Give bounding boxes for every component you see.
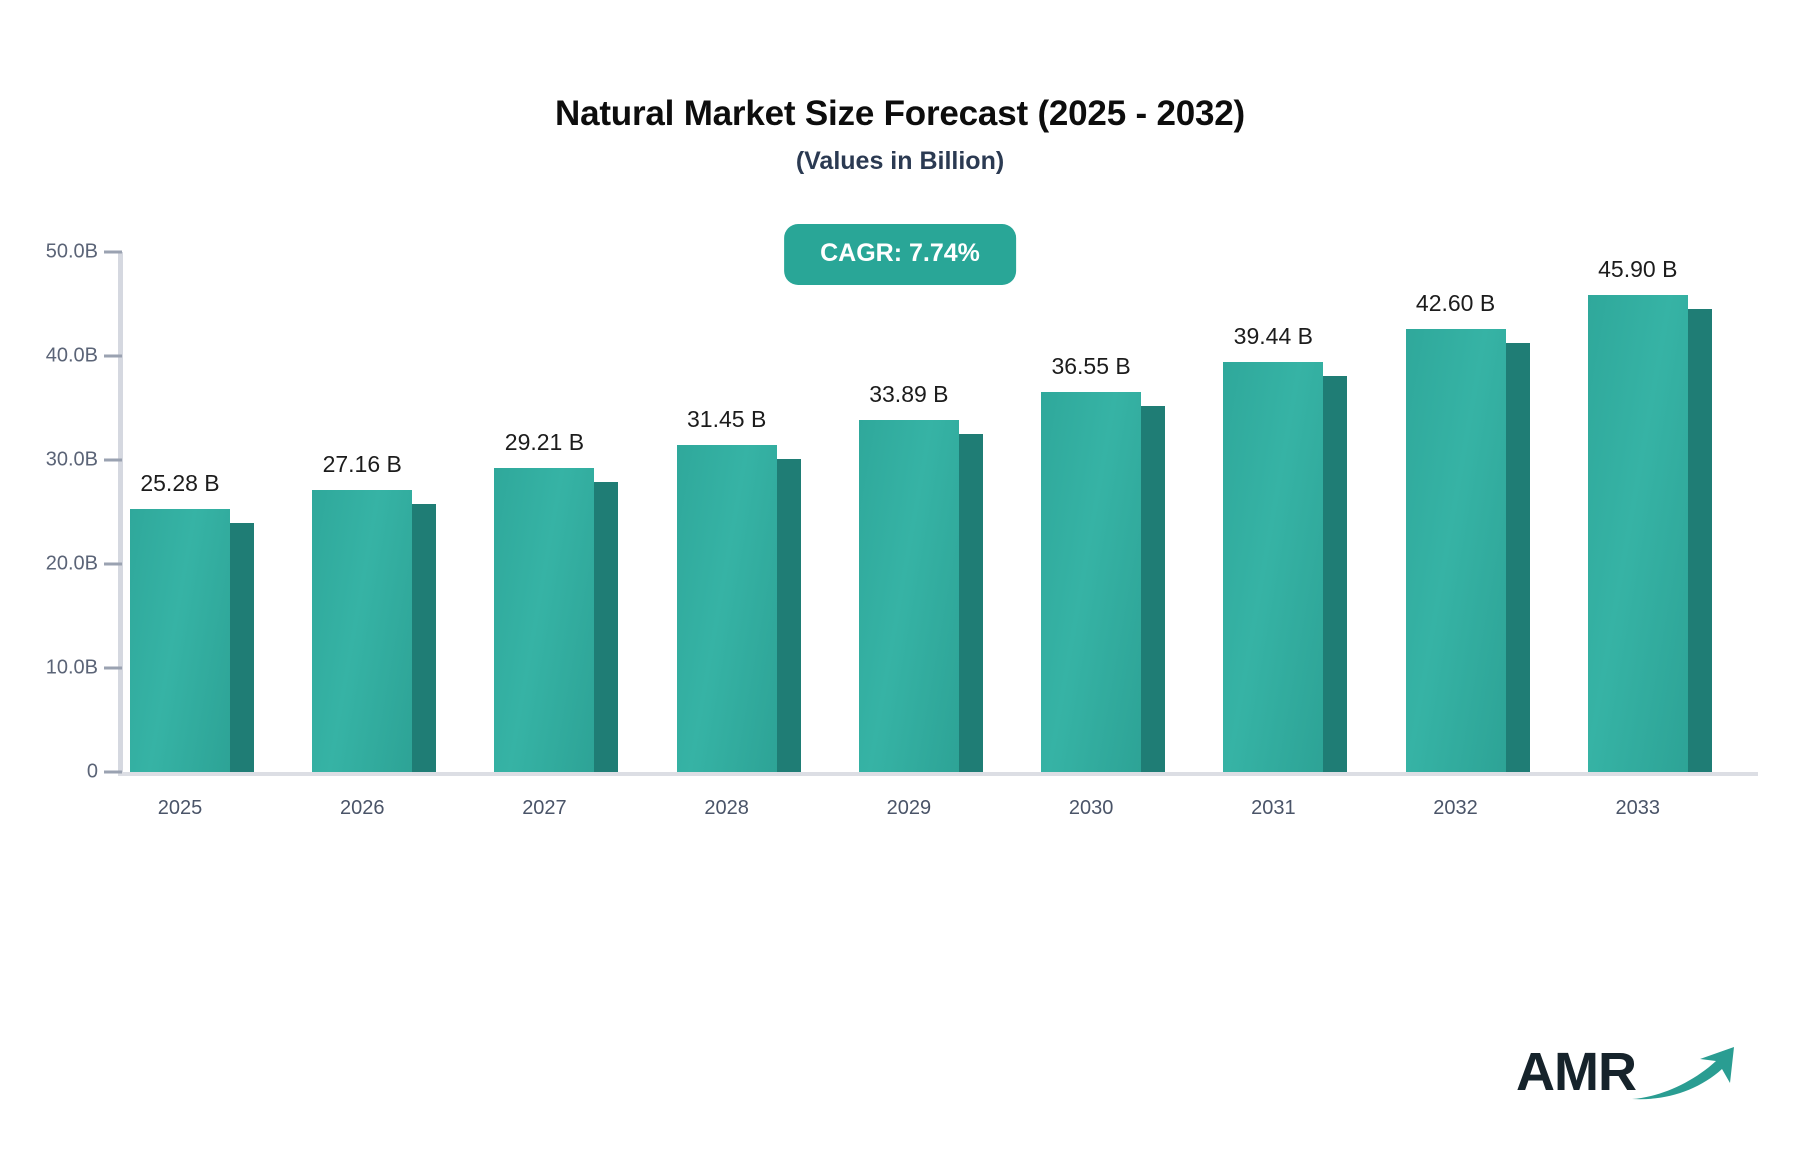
y-axis-tick-label: 10.0B <box>2 657 98 680</box>
y-axis-tick-label: 0 <box>2 761 98 784</box>
x-axis-label-2033: 2033 <box>1616 797 1661 820</box>
plot-area: 010.0B20.0B30.0B40.0B50.0B 25.28 B27.16 … <box>118 252 1758 772</box>
bar-2030[interactable]: 36.55 B <box>1041 392 1165 772</box>
bar-front-face <box>1223 362 1323 772</box>
x-axis-label-2028: 2028 <box>704 797 749 820</box>
amr-logo: AMR <box>1516 1040 1742 1104</box>
bar-2027[interactable]: 29.21 B <box>494 468 618 772</box>
bar-side-face <box>777 459 801 772</box>
y-axis-line <box>118 252 123 772</box>
bar-side-face <box>594 482 618 772</box>
y-axis-tick-mark <box>104 251 122 254</box>
bar-value-label: 45.90 B <box>1598 256 1677 283</box>
bar-2032[interactable]: 42.60 B <box>1406 329 1530 772</box>
y-axis-tick-mark <box>104 563 122 566</box>
bar-value-label: 29.21 B <box>505 429 584 456</box>
bar-2026[interactable]: 27.16 B <box>312 490 436 772</box>
chart-subtitle: (Values in Billion) <box>0 147 1800 176</box>
bar-value-label: 25.28 B <box>140 470 219 497</box>
bar-front-face <box>130 509 230 772</box>
bar-2029[interactable]: 33.89 B <box>859 420 983 772</box>
bar-front-face <box>1041 392 1141 772</box>
bar-2031[interactable]: 39.44 B <box>1223 362 1347 772</box>
bar-value-label: 31.45 B <box>687 406 766 433</box>
x-axis-label-2032: 2032 <box>1433 797 1478 820</box>
logo-wordmark: AMR <box>1516 1045 1636 1099</box>
bar-value-label: 42.60 B <box>1416 290 1495 317</box>
bar-2025[interactable]: 25.28 B <box>130 509 254 772</box>
x-axis-label-2027: 2027 <box>522 797 567 820</box>
y-axis-tick-mark <box>104 667 122 670</box>
bar-side-face <box>412 504 436 772</box>
y-axis-tick-label: 40.0B <box>2 345 98 368</box>
bar-side-face <box>230 523 254 772</box>
x-axis-label-2026: 2026 <box>340 797 385 820</box>
chart-page: Natural Market Size Forecast (2025 - 203… <box>0 0 1800 1156</box>
y-axis-tick-label: 30.0B <box>2 449 98 472</box>
bar-front-face <box>1406 329 1506 772</box>
bar-side-face <box>959 434 983 772</box>
x-axis-label-2029: 2029 <box>887 797 932 820</box>
bar-2028[interactable]: 31.45 B <box>677 445 801 772</box>
bar-front-face <box>677 445 777 772</box>
bar-value-label: 39.44 B <box>1234 323 1313 350</box>
bar-side-face <box>1323 376 1347 772</box>
x-axis-label-2031: 2031 <box>1251 797 1296 820</box>
y-axis-tick-label: 20.0B <box>2 553 98 576</box>
bar-side-face <box>1506 343 1530 772</box>
bar-side-face <box>1141 406 1165 772</box>
bar-2033[interactable]: 45.90 B <box>1588 295 1712 772</box>
y-axis-tick-mark <box>104 459 122 462</box>
bar-front-face <box>494 468 594 772</box>
growth-arrow-icon <box>1630 1043 1742 1108</box>
bar-side-face <box>1688 309 1712 772</box>
bar-front-face <box>1588 295 1688 772</box>
page-title: Natural Market Size Forecast (2025 - 203… <box>0 94 1800 134</box>
x-axis-label-2030: 2030 <box>1069 797 1114 820</box>
bar-value-label: 27.16 B <box>323 451 402 478</box>
bar-value-label: 36.55 B <box>1051 353 1130 380</box>
x-axis-label-2025: 2025 <box>158 797 203 820</box>
bar-front-face <box>859 420 959 772</box>
x-axis-line <box>118 772 1758 776</box>
y-axis-tick-label: 50.0B <box>2 241 98 264</box>
bar-value-label: 33.89 B <box>869 381 948 408</box>
y-axis-tick-mark <box>104 771 122 774</box>
bar-front-face <box>312 490 412 772</box>
y-axis-tick-mark <box>104 355 122 358</box>
